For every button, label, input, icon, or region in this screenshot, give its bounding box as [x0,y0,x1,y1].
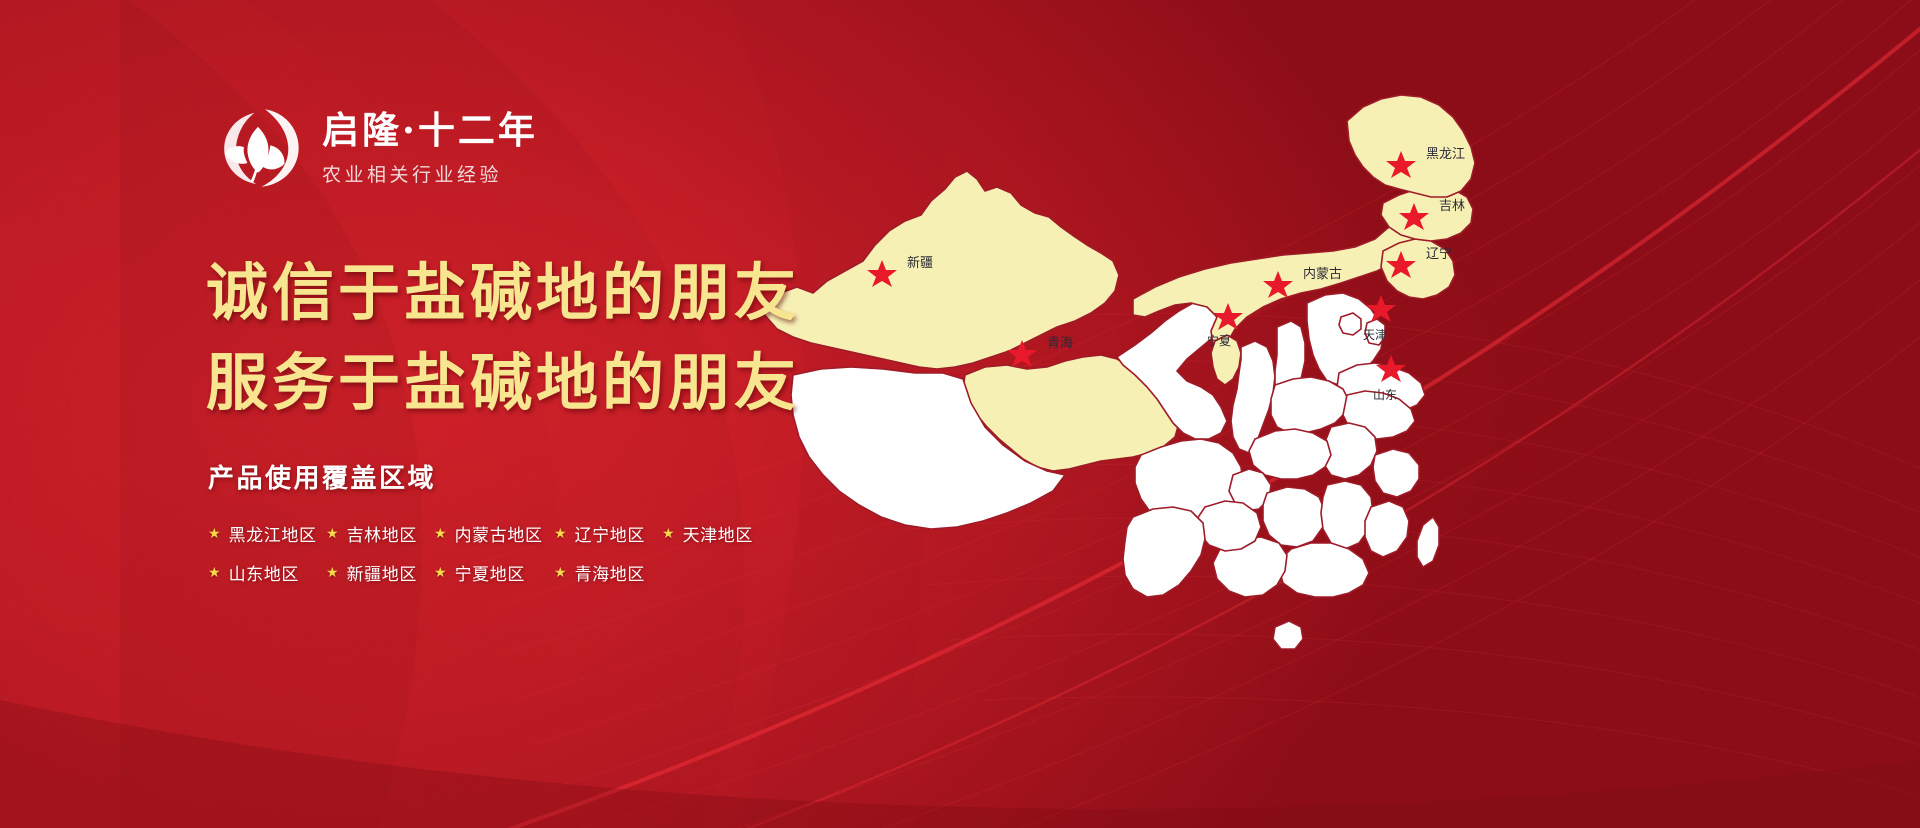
star-icon: ★ [662,527,675,541]
region-item-liaoning: ★ 辽宁地区 [554,521,662,546]
coverage-region-list: ★ 黑龙江地区 ★ 吉林地区 ★ 内蒙古地区 ★ 辽宁地区 ★ 天津地区 [208,521,772,585]
map-label: 青海 [1047,336,1073,351]
brand-title: 启隆·十二年 [322,109,538,152]
province-taiwan [1417,517,1439,567]
region-label: 山东地区 [229,560,299,585]
province-guizhou [1197,501,1261,551]
map-label: 新疆 [907,255,933,271]
region-item-jilin: ★ 吉林地区 [326,521,434,546]
region-item-shandong: ★ 山东地区 [208,560,326,585]
region-label: 宁夏地区 [455,560,525,585]
map-label: 黑龙江 [1426,147,1465,162]
map-label: 内蒙古 [1303,266,1342,282]
star-icon: ★ [434,527,447,541]
map-label: 宁夏 [1207,333,1231,348]
region-label: 黑龙江地区 [229,521,317,546]
province-heilongjiang [1347,95,1475,197]
province-hainan [1273,621,1303,649]
content-column: 启隆·十二年 农业相关行业经验 诚信于盐碱地的朋友 服务于盐碱地的朋友 产品使用… [0,0,900,828]
brand-logo: 启隆·十二年 农业相关行业经验 [214,104,538,192]
coverage-block: 产品使用覆盖区域 ★ 黑龙江地区 ★ 吉林地区 ★ 内蒙古地区 ★ 辽宁地区 [208,458,772,585]
region-item-heilongjiang: ★ 黑龙江地区 [208,521,326,546]
map-label: 天津 [1363,328,1387,342]
star-icon: ★ [208,566,221,580]
province-guangdong [1279,543,1369,597]
province-hubei [1249,429,1331,479]
headline-block: 诚信于盐碱地的朋友 服务于盐碱地的朋友 [206,252,800,425]
headline-line-2: 服务于盐碱地的朋友 [206,342,800,424]
star-icon: ★ [554,527,567,541]
region-item-neimenggu: ★ 内蒙古地区 [434,521,554,546]
brand-subtitle: 农业相关行业经验 [322,160,538,187]
province-zhejiang [1373,449,1419,497]
province-fujian [1365,501,1409,557]
headline-line-1: 诚信于盐碱地的朋友 [206,252,800,334]
star-icon: ★ [326,566,339,580]
region-label: 天津地区 [683,521,753,546]
province-henan [1271,377,1349,433]
star-icon: ★ [208,527,221,541]
region-item-tianjin: ★ 天津地区 [662,521,772,546]
region-label: 青海地区 [575,560,645,585]
region-item-xinjiang: ★ 新疆地区 [326,560,434,585]
star-icon: ★ [434,566,447,580]
map-label: 辽宁 [1426,246,1452,262]
region-item-qinghai: ★ 青海地区 [554,560,662,585]
province-hunan [1263,487,1325,547]
lotus-leaf-circle-logo-icon [214,104,302,192]
region-label: 新疆地区 [347,560,417,585]
region-label: 吉林地区 [347,521,417,546]
region-item-ningxia: ★ 宁夏地区 [434,560,554,585]
star-icon: ★ [326,527,339,541]
coverage-title: 产品使用覆盖区域 [208,458,772,495]
promo-banner: 启隆·十二年 农业相关行业经验 诚信于盐碱地的朋友 服务于盐碱地的朋友 产品使用… [0,0,1920,828]
province-anhui [1323,423,1377,479]
region-label: 内蒙古地区 [455,521,543,546]
region-label: 辽宁地区 [575,521,645,546]
province-yunnan [1123,507,1205,597]
map-label: 山东 [1373,388,1397,402]
municipality-beijing [1339,313,1361,335]
star-icon: ★ [554,566,567,580]
map-label: 吉林 [1439,199,1465,214]
